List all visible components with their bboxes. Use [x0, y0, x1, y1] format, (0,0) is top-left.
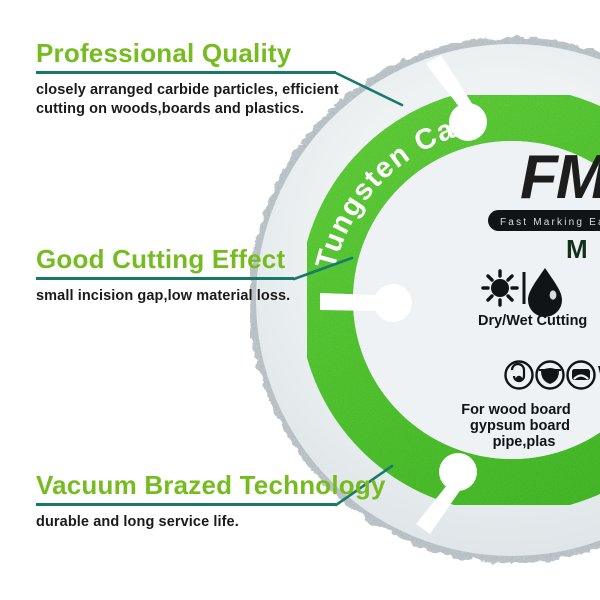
callout-vacuum-brazed-technology: Vacuum Brazed Technology durable and lon…	[36, 472, 386, 532]
blade-partial-letter-m: M	[566, 234, 588, 264]
svg-text:pipe,plas: pipe,plas	[493, 434, 556, 450]
sun-icon	[483, 271, 517, 305]
callout-2-rule	[36, 277, 294, 280]
callout-1-heading: Professional Quality	[36, 40, 339, 67]
dry-wet-label: Dry/Wet Cutting	[478, 313, 587, 329]
svg-text:gypsum board: gypsum board	[470, 418, 570, 434]
callout-3-rule	[36, 503, 336, 506]
safety-goggles-icon	[568, 362, 595, 389]
callout-good-cutting-effect: Good Cutting Effect small incision gap,l…	[36, 246, 294, 306]
blade-arc-text: Tungsten Ca	[310, 113, 459, 272]
callout-1-rule	[36, 71, 336, 74]
product-feature-image: Tungsten Ca FM Fast Marking Easy M	[0, 0, 600, 600]
water-drop-icon	[528, 268, 562, 317]
blade-materials-text: For wood board gypsum board pipe,plas	[461, 402, 571, 450]
blade-slogan-pill: Fast Marking Easy	[488, 210, 600, 231]
expansion-slot-left	[320, 284, 412, 322]
dust-mask-icon	[537, 362, 564, 389]
callout-professional-quality: Professional Quality closely arranged ca…	[36, 40, 339, 120]
expansion-slot-top	[426, 55, 487, 141]
blade-expansion-slots	[320, 55, 487, 534]
expansion-slot-bottom	[416, 453, 477, 534]
callout-2-body: small incision gap,low material loss.	[36, 287, 294, 306]
callout-3-body: durable and long service life.	[36, 513, 386, 532]
blade-green-label-ring	[326, 114, 600, 486]
blade-inner-label-field	[353, 141, 600, 459]
callout-2-heading: Good Cutting Effect	[36, 246, 294, 273]
callout-1-body: closely arranged carbide particles, effi…	[36, 81, 339, 119]
blade-safety-icon-row	[506, 362, 595, 389]
blade-dry-wet-badge: Dry/Wet Cutting	[478, 268, 587, 329]
svg-text:For wood board: For wood board	[461, 402, 571, 418]
ear-protection-icon	[506, 362, 533, 389]
leader-line-1	[336, 73, 402, 105]
blade-brand-logotype: FM	[520, 143, 600, 212]
blade-slogan-text: Fast Marking Easy	[500, 217, 600, 228]
leader-line-2	[294, 258, 352, 279]
callout-3-heading: Vacuum Brazed Technology	[36, 472, 386, 499]
